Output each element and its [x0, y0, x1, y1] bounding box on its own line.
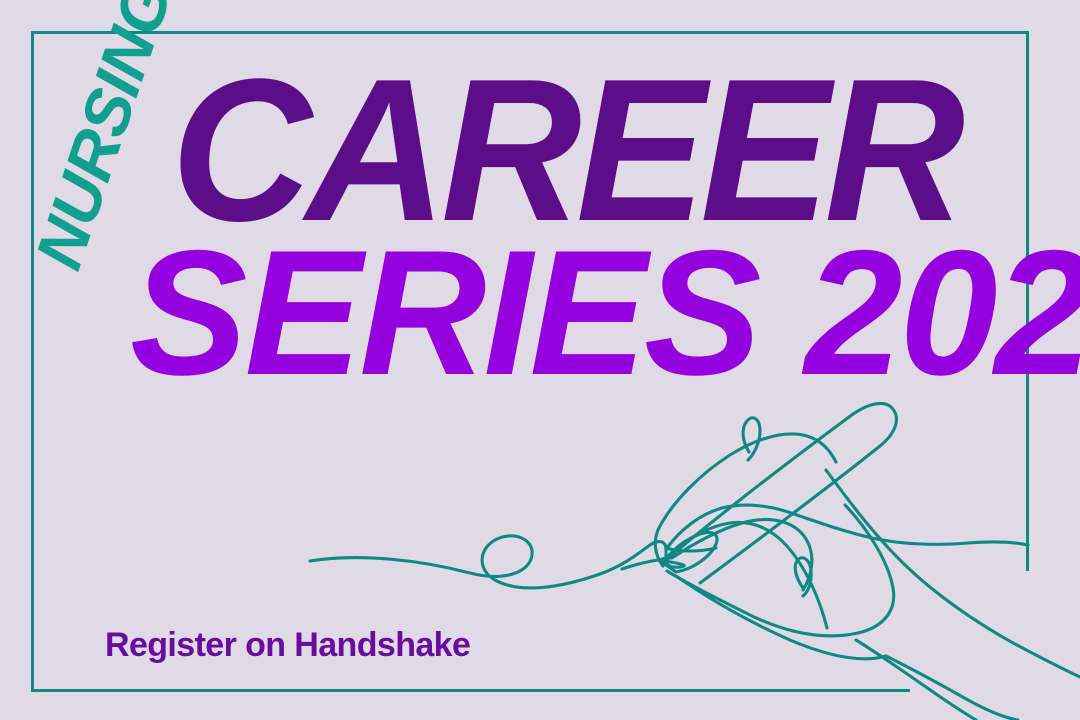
headline-line-series-2026: SERIES 2026 — [130, 240, 1080, 386]
headline-block: CAREER SERIES 2026 — [0, 0, 1080, 420]
headline-line-career: CAREER — [171, 68, 959, 234]
poster-canvas: NURSING CAREER SERIES 2026 Register on H… — [0, 0, 1080, 720]
cta-register-on-handshake[interactable]: Register on Handshake — [105, 626, 470, 665]
frame-bottom-edge — [31, 689, 910, 692]
